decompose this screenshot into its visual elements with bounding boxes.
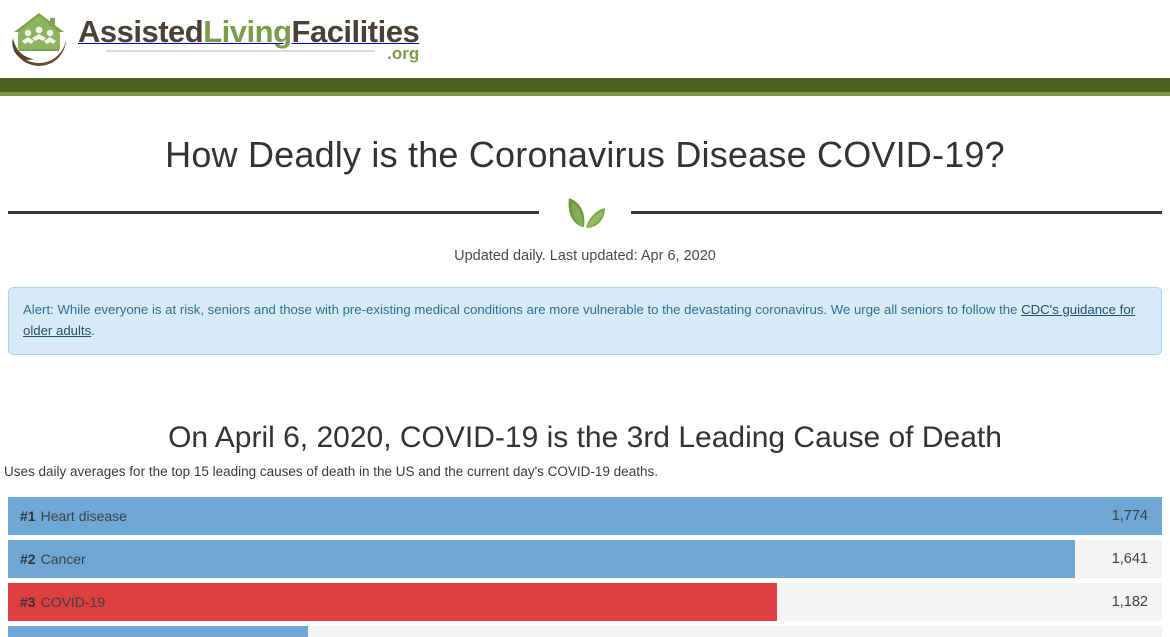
leaf-divider <box>8 192 1162 232</box>
bar-label: #1 Heart disease <box>20 497 127 535</box>
bar-fill <box>8 626 308 637</box>
bar-label: #3 COVID-19 <box>20 583 105 621</box>
bar-cause-name: Heart disease <box>41 508 127 524</box>
logo-underline-rule <box>106 50 375 52</box>
divider-rule-right <box>631 211 1162 214</box>
site-logo[interactable]: AssistedLivingFacilities .org <box>8 11 419 67</box>
alert-text-after-link: . <box>91 323 95 338</box>
house-with-people-in-hand-logo-icon <box>8 11 70 67</box>
bar-rank: #3 <box>20 594 36 610</box>
table-row[interactable]: #2 Cancer 1,641 <box>8 540 1162 578</box>
bar-label: #2 Cancer <box>20 540 86 578</box>
chart-subtitle: Uses daily averages for the top 15 leadi… <box>4 464 1170 479</box>
last-updated-text: Updated daily. Last updated: Apr 6, 2020 <box>0 248 1170 264</box>
bar-rank: #2 <box>20 551 36 567</box>
bar-value: 1,774 <box>1112 497 1148 535</box>
table-row[interactable]: #4 <box>8 626 1162 637</box>
divider-rule-left <box>8 211 539 214</box>
site-header: AssistedLivingFacilities .org <box>0 0 1170 78</box>
table-row[interactable]: #3 COVID-19 1,182 <box>8 583 1162 621</box>
bar-fill <box>8 583 777 621</box>
page-title: How Deadly is the Coronavirus Disease CO… <box>0 134 1170 176</box>
bar-value: 1,641 <box>1112 540 1148 578</box>
bar-value: 1,182 <box>1112 583 1148 621</box>
logo-word-assisted: Assisted <box>78 14 203 49</box>
bar-fill <box>8 497 1162 535</box>
bar-rank: #1 <box>20 508 36 524</box>
leading-causes-bar-chart: #1 Heart disease 1,774 #2 Cancer 1,641 #… <box>0 497 1170 637</box>
alert-banner: Alert: While everyone is at risk, senior… <box>8 287 1162 355</box>
chart-heading: On April 6, 2020, COVID-19 is the 3rd Le… <box>0 421 1170 455</box>
table-row[interactable]: #1 Heart disease 1,774 <box>8 497 1162 535</box>
leaf-icon <box>539 192 631 232</box>
bar-label: #4 <box>20 626 41 637</box>
bar-fill <box>8 540 1075 578</box>
green-divider-bar-light <box>0 92 1170 96</box>
alert-text-before-link: Alert: While everyone is at risk, senior… <box>23 302 1021 317</box>
logo-tld: .org <box>387 45 419 62</box>
bar-cause-name: Cancer <box>41 551 86 567</box>
logo-word-living: Living <box>203 14 291 49</box>
bar-cause-name: COVID-19 <box>41 594 106 610</box>
logo-wordmark: AssistedLivingFacilities .org <box>78 16 419 63</box>
green-divider-bar <box>0 78 1170 92</box>
